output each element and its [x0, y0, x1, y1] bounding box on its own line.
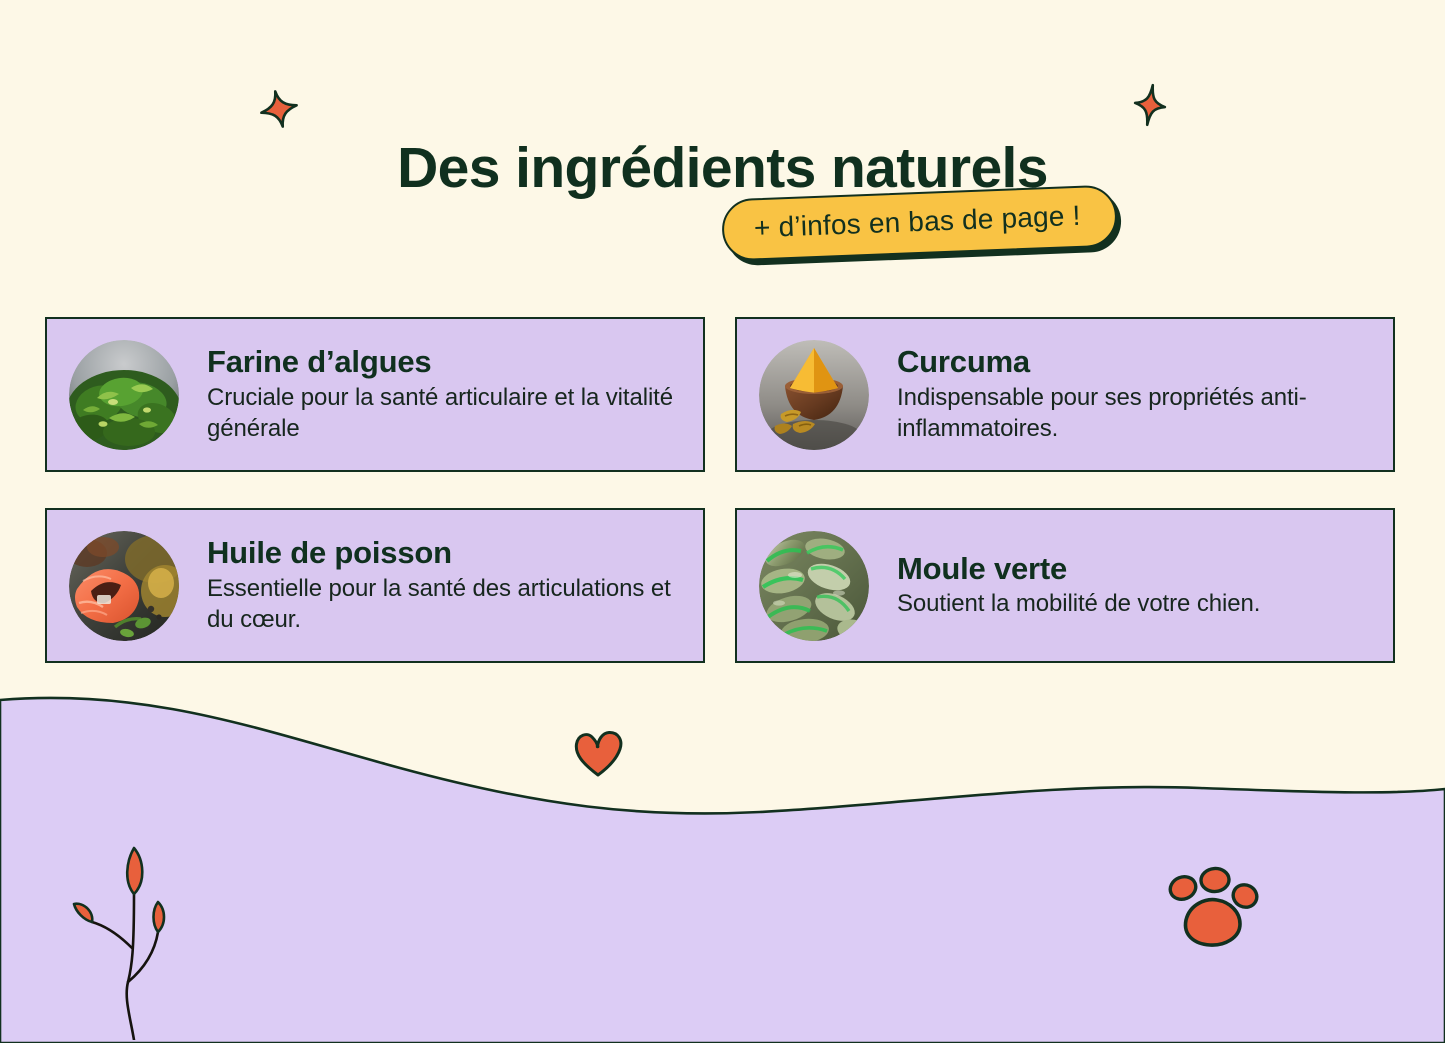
poster-canvas: Des ingrédients naturels + d’infos en ba… [0, 0, 1445, 1043]
card-description: Essentielle pour la santé des articulati… [207, 574, 689, 635]
ingredient-card[interactable]: Huile de poisson Essentielle pour la san… [45, 508, 705, 663]
card-description: Cruciale pour la santé articulaire et la… [207, 383, 689, 444]
card-description: Indispensable pour ses propriétés anti-i… [897, 383, 1379, 444]
card-text: Farine d’algues Cruciale pour la santé a… [207, 344, 703, 444]
sparkle-star-icon [258, 88, 300, 135]
card-title: Curcuma [897, 344, 1379, 380]
turmeric-photo [759, 340, 869, 450]
heart-icon [572, 728, 624, 783]
green-mussels-photo [759, 531, 869, 641]
card-title: Farine d’algues [207, 344, 689, 380]
wave-divider [0, 660, 1445, 1043]
page-title: Des ingrédients naturels [0, 139, 1445, 199]
salmon-photo [69, 531, 179, 641]
sparkle-star-icon [1132, 82, 1168, 133]
seaweed-photo [69, 340, 179, 450]
card-description: Soutient la mobilité de votre chien. [897, 589, 1379, 620]
ingredient-card[interactable]: Farine d’algues Cruciale pour la santé a… [45, 317, 705, 472]
card-title: Huile de poisson [207, 535, 689, 571]
branch-leaves-icon [62, 840, 202, 1043]
ingredient-card[interactable]: Moule verte Soutient la mobilité de votr… [735, 508, 1395, 663]
card-text: Moule verte Soutient la mobilité de votr… [897, 551, 1393, 620]
ingredient-card[interactable]: Curcuma Indispensable pour ses propriété… [735, 317, 1395, 472]
card-title: Moule verte [897, 551, 1379, 587]
card-text: Curcuma Indispensable pour ses propriété… [897, 344, 1393, 444]
paw-print-icon [1160, 862, 1270, 957]
card-text: Huile de poisson Essentielle pour la san… [207, 535, 703, 635]
